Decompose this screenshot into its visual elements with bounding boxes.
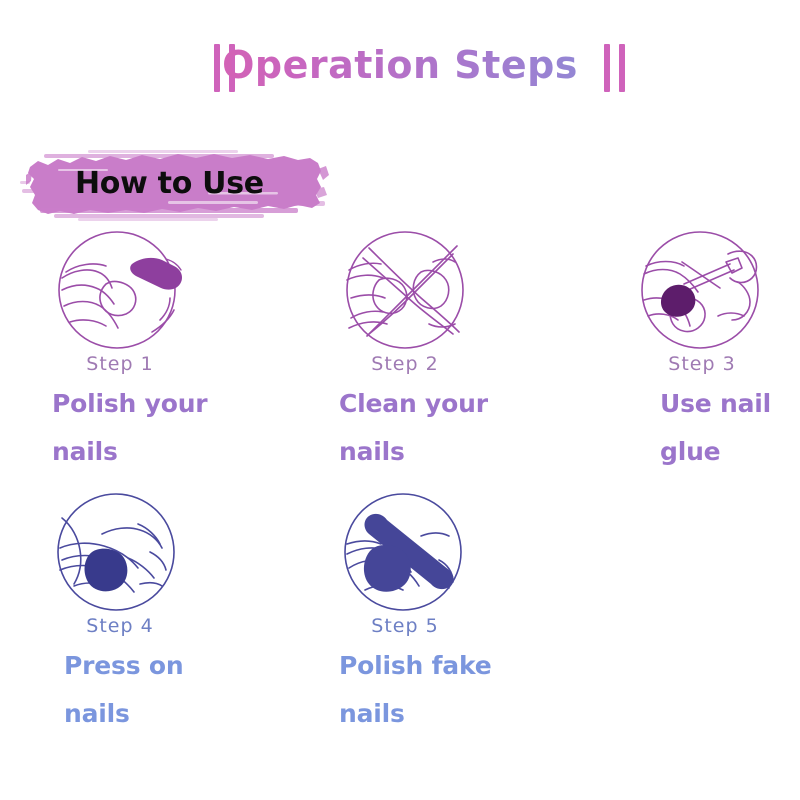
step-caption: Polish fake nails bbox=[339, 642, 539, 738]
title-decoration-right bbox=[604, 44, 625, 92]
step-caption: Use nail glue bbox=[660, 380, 800, 476]
step-caption: Polish your nails bbox=[52, 380, 242, 476]
finger-with-nail-file-icon bbox=[40, 228, 200, 358]
step-number-label: Step 2 bbox=[325, 353, 485, 375]
step-caption: Clean your nails bbox=[339, 380, 529, 476]
how-to-use-banner: How to Use bbox=[18, 145, 338, 225]
title-bar-icon bbox=[604, 44, 610, 92]
glue-brush-on-nail-icon bbox=[622, 228, 782, 358]
hand-with-wipe-icon bbox=[325, 228, 485, 358]
step-number-label: Step 1 bbox=[40, 353, 200, 375]
step-number-label: Step 3 bbox=[622, 353, 782, 375]
header: Operation Steps bbox=[0, 38, 800, 100]
how-to-use-label: How to Use bbox=[75, 166, 264, 201]
file-fake-nail-icon bbox=[325, 490, 485, 620]
press-fake-nail-icon bbox=[40, 490, 200, 620]
title-bar-icon bbox=[619, 44, 625, 92]
step-number-label: Step 4 bbox=[40, 615, 200, 637]
step-caption: Press on nails bbox=[64, 642, 244, 738]
page-title: Operation Steps bbox=[0, 38, 800, 92]
step-number-label: Step 5 bbox=[325, 615, 485, 637]
